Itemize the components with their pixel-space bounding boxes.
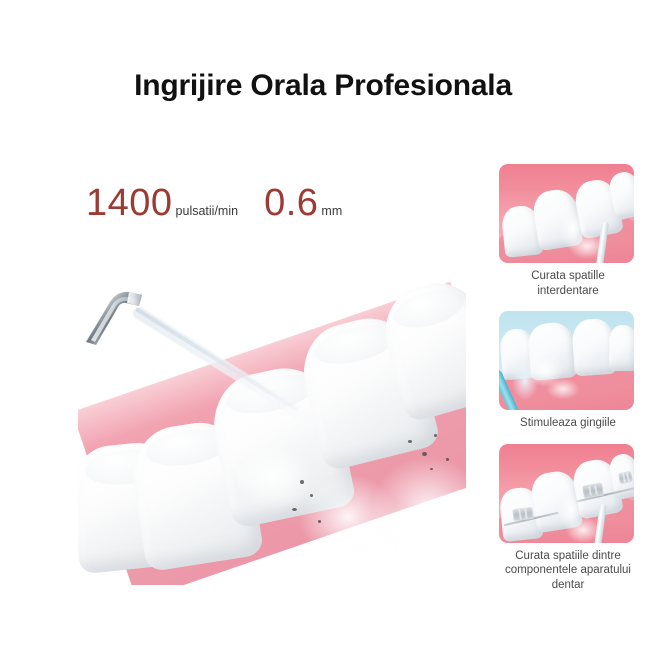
- page-title: Ingrijire Orala Profesionala: [0, 66, 646, 106]
- spec-pulses-unit: pulsatii/min: [176, 203, 239, 219]
- feature-column: Curata spatille interdentare Stimuleaza …: [499, 164, 637, 605]
- tooth-shape: [609, 325, 634, 371]
- debris-particle: [422, 452, 427, 456]
- feature-caption: Curata spatiile dintre componentele apar…: [499, 549, 637, 593]
- debris-particle: [310, 494, 313, 497]
- spec-pulses-value: 1400: [86, 182, 173, 224]
- feature-caption: Curata spatille interdentare: [499, 269, 637, 298]
- spec-diameter-value: 0.6: [264, 182, 318, 224]
- braces-bracket: [512, 506, 533, 521]
- debris-particle: [446, 458, 449, 461]
- tooth-shape: [527, 321, 578, 381]
- braces-bracket: [618, 470, 633, 483]
- spec-row: 1400 pulsatii/min 0.6 mm: [86, 182, 342, 224]
- spec-pulses: 1400 pulsatii/min: [86, 182, 238, 224]
- hero-illustration: [78, 262, 466, 585]
- tooth-cusp-highlight: [389, 282, 466, 335]
- thumb-interdental-cleaning[interactable]: [499, 164, 634, 263]
- feature-caption: Stimuleaza gingiile: [499, 416, 637, 431]
- spec-diameter-unit: mm: [321, 203, 342, 219]
- thumb-braces-cleaning[interactable]: [499, 444, 634, 543]
- braces-bracket: [582, 482, 604, 498]
- spec-diameter: 0.6 mm: [264, 182, 342, 224]
- debris-particle: [430, 468, 433, 470]
- debris-particle: [300, 480, 304, 484]
- feature-card[interactable]: Stimuleaza gingiile: [499, 311, 637, 431]
- thumb-gum-stimulation[interactable]: [499, 311, 634, 410]
- feature-card[interactable]: Curata spatiile dintre componentele apar…: [499, 444, 637, 593]
- feature-card[interactable]: Curata spatille interdentare: [499, 164, 637, 298]
- debris-particle: [292, 508, 297, 511]
- debris-particle: [434, 434, 437, 437]
- flosser-nozzle-icon: [84, 286, 146, 346]
- debris-particle: [408, 440, 412, 443]
- debris-particle: [318, 520, 321, 523]
